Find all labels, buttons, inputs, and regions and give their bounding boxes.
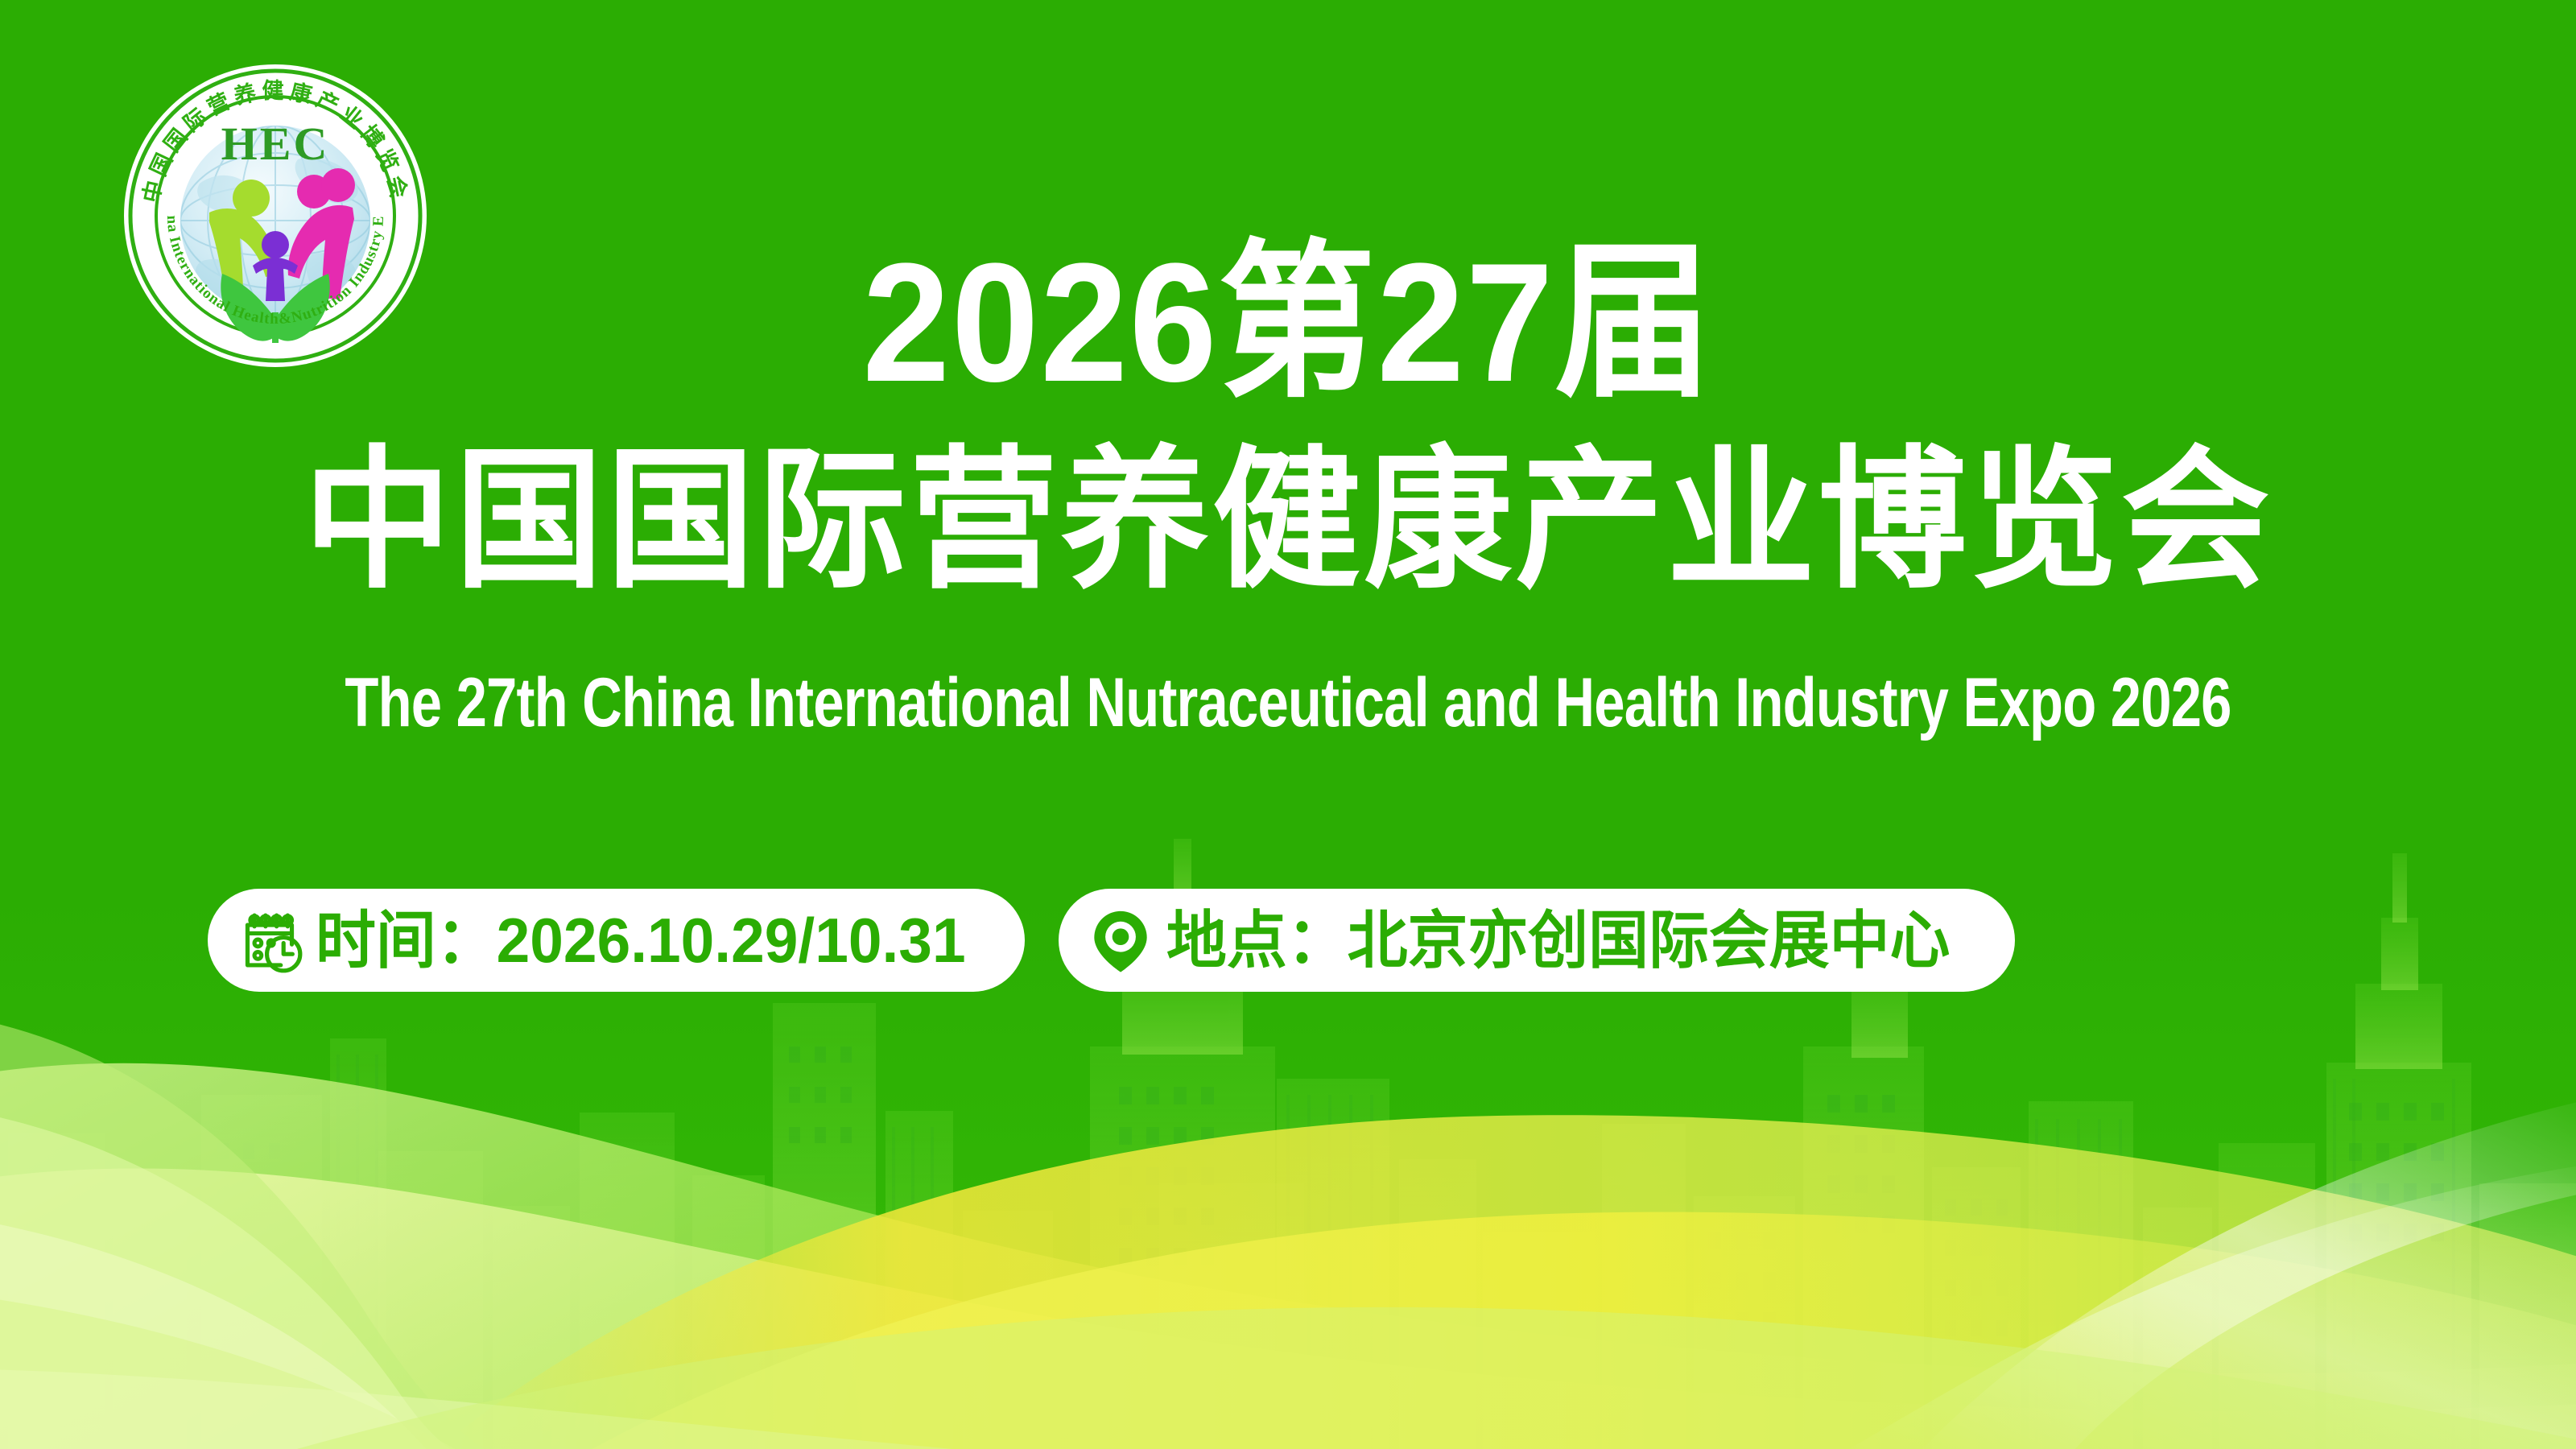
venue-text: 地点：北京亦创国际会展中心 (1166, 906, 1950, 975)
calendar-clock-icon (235, 906, 304, 975)
hec-logo: HEC 中国国际营养健康产业博览会 (122, 63, 428, 369)
date-text: 时间：2026.10.29/10.31 (316, 906, 966, 975)
venue-pill[interactable]: 地点：北京亦创国际会展中心 (1059, 889, 2015, 992)
logo-abbr: HEC (221, 118, 330, 170)
info-pill-row: 时间：2026.10.29/10.31 地点：北京亦创国际会展中心 (208, 889, 2015, 992)
poster-canvas: HEC 中国国际营养健康产业博览会 (0, 0, 2576, 1449)
date-pill[interactable]: 时间：2026.10.29/10.31 (208, 889, 1025, 992)
map-pin-icon (1086, 906, 1155, 975)
